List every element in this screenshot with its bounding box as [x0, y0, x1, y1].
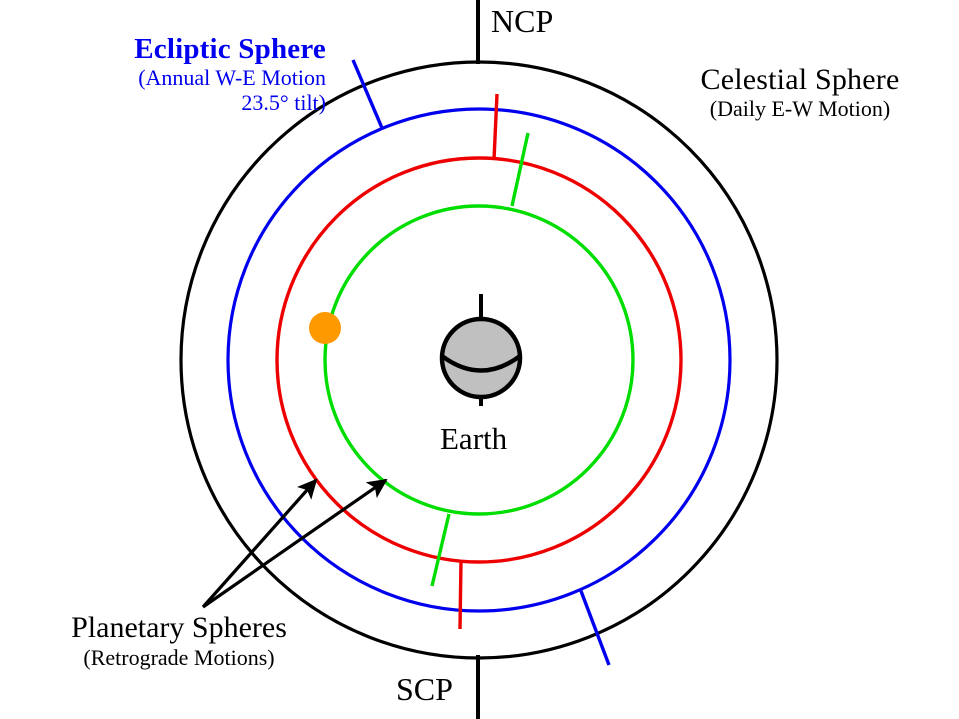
celestial-sphere-label: Celestial Sphere (Daily E-W Motion): [672, 64, 928, 121]
ecliptic-sphere-label: Ecliptic Sphere (Annual W-E Motion 23.5°…: [34, 34, 326, 115]
planetary-spheres-label: Planetary Spheres (Retrograde Motions): [34, 612, 324, 670]
ecliptic-sphere-subtitle-line1: (Annual W-E Motion: [34, 66, 326, 90]
earth-globe-icon: [442, 319, 520, 397]
ecliptic-tick-lower-right: [581, 591, 609, 665]
ncp-label: NCP: [491, 4, 553, 39]
celestial-sphere-subtitle: (Daily E-W Motion): [672, 97, 928, 121]
planetary-inner-tick-top: [512, 133, 528, 206]
planetary-spheres-subtitle: (Retrograde Motions): [34, 646, 324, 670]
earth-label: Earth: [440, 422, 507, 455]
planetary-arrow-to-red: [203, 480, 316, 607]
ecliptic-tick-upper-left: [353, 60, 382, 128]
scp-label: SCP: [396, 672, 453, 707]
planetary-spheres-title: Planetary Spheres: [34, 612, 324, 644]
planetary-outer-tick-bottom: [460, 560, 461, 629]
ecliptic-sphere-subtitle-line2: 23.5° tilt): [34, 91, 326, 115]
planetary-arrow-to-green: [203, 480, 386, 607]
planetary-outer-tick-top: [494, 94, 497, 160]
planetary-inner-tick-bottom: [432, 514, 449, 586]
celestial-sphere-title: Celestial Sphere: [672, 64, 928, 96]
ecliptic-sphere-title: Ecliptic Sphere: [34, 34, 326, 65]
sun-marker-icon: [309, 312, 341, 344]
diagram-canvas: Celestial Sphere (Daily E-W Motion) Ecli…: [0, 0, 959, 719]
